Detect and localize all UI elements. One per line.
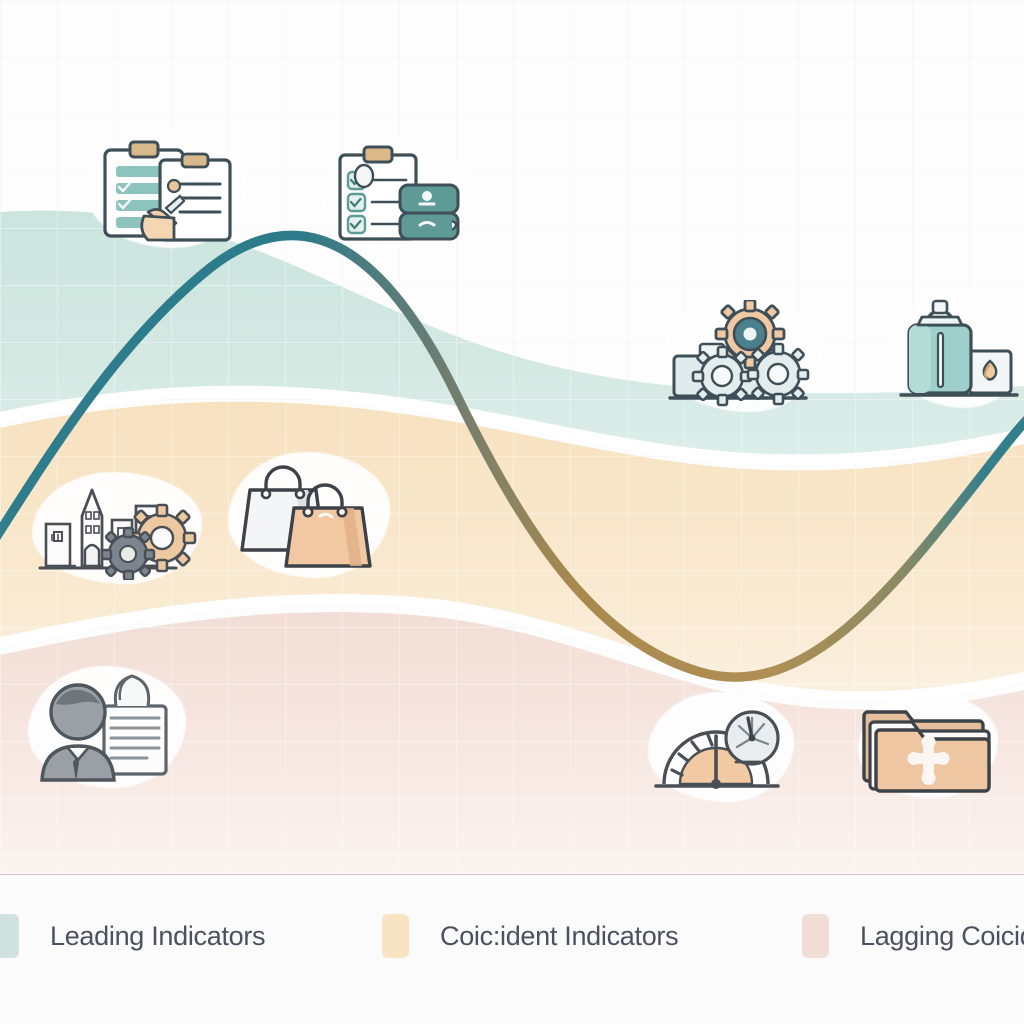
business-cycle-infographic: Leading Indicators Coic:ident Indicators… <box>0 0 1024 1024</box>
employment-person-icon[interactable] <box>28 666 186 788</box>
legend-item-coincident[interactable]: Coic:ident Indicators <box>382 914 802 958</box>
gauge-meter-icon[interactable] <box>648 692 794 802</box>
chart-legend: Leading Indicators Coic:ident Indicators… <box>0 876 1024 1024</box>
legend-item-leading[interactable]: Leading Indicators <box>0 914 382 958</box>
survey-clipboard-icon[interactable] <box>88 132 246 248</box>
legend-label-lagging: Lagging Coicidlen <box>860 921 1024 952</box>
legend-swatch-coincident <box>382 914 409 958</box>
legend-label-leading: Leading Indicators <box>50 921 265 952</box>
checklist-clipboard-icon[interactable] <box>322 140 472 246</box>
legend-swatch-lagging <box>802 914 829 958</box>
folders-stack-icon[interactable] <box>858 692 998 798</box>
legend-swatch-leading <box>0 914 19 958</box>
gears-factory-icon[interactable] <box>662 296 822 412</box>
legend-row: Leading Indicators Coic:ident Indicators… <box>0 906 1024 966</box>
shopping-bags-icon[interactable] <box>228 452 390 578</box>
chart-legend-separator <box>0 874 1024 875</box>
city-gears-icon[interactable] <box>32 472 202 584</box>
briefcase-building-icon[interactable] <box>892 292 1024 408</box>
legend-item-lagging[interactable]: Lagging Coicidlen <box>802 914 1024 958</box>
legend-label-coincident: Coic:ident Indicators <box>440 921 678 952</box>
